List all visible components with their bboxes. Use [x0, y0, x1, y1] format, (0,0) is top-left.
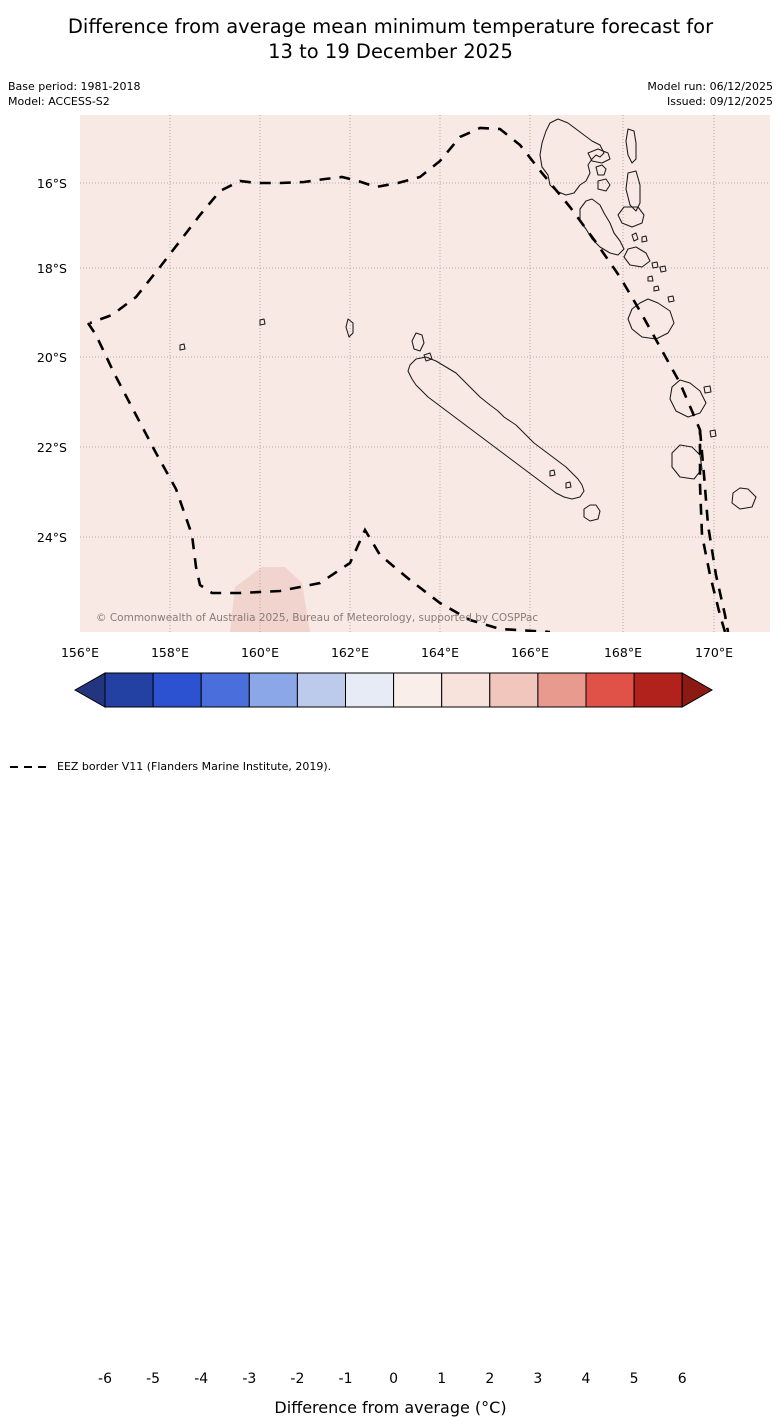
colorbar-bins — [105, 673, 682, 707]
issued-text: Issued: 09/12/2025 — [647, 95, 773, 110]
colorbar-cap-high — [682, 673, 712, 707]
cbar-tick-0: 0 — [374, 1371, 414, 1387]
y-tick-24S: 24°S — [0, 530, 67, 545]
x-tick-168E: 168°E — [583, 645, 663, 660]
footnote-text: EEZ border V11 (Flanders Marine Institut… — [57, 760, 331, 773]
cbar-tick-5: 5 — [614, 1371, 654, 1387]
cbar-tick--6: -6 — [85, 1371, 125, 1387]
colorbar-svg — [0, 668, 781, 714]
y-tick-22S: 22°S — [0, 440, 67, 455]
cbar-tick-1: 1 — [422, 1371, 462, 1387]
x-tick-170E: 170°E — [674, 645, 754, 660]
map-panel[interactable]: © Commonwealth of Australia 2025, Bureau… — [80, 115, 770, 632]
cbar-tick--2: -2 — [277, 1371, 317, 1387]
cbar-tick--3: -3 — [229, 1371, 269, 1387]
x-tick-160E: 160°E — [220, 645, 300, 660]
colorbar-cap-low — [75, 673, 105, 707]
cbar-tick--5: -5 — [133, 1371, 173, 1387]
cbar-tick--4: -4 — [181, 1371, 221, 1387]
x-tick-156E: 156°E — [40, 645, 120, 660]
anomaly-field-base — [80, 115, 770, 632]
figure-root: Difference from average mean minimum tem… — [0, 0, 781, 781]
map-canvas — [80, 115, 770, 632]
cbar-tick--1: -1 — [326, 1371, 366, 1387]
map-copyright: © Commonwealth of Australia 2025, Bureau… — [96, 612, 538, 624]
cbar-tick-3: 3 — [518, 1371, 558, 1387]
title-line-1: Difference from average mean minimum tem… — [0, 14, 781, 39]
eez-legend-dash-icon — [8, 762, 52, 772]
title-line-2: 13 to 19 December 2025 — [0, 39, 781, 64]
cbar-tick-4: 4 — [566, 1371, 606, 1387]
x-tick-158E: 158°E — [130, 645, 210, 660]
page-title: Difference from average mean minimum tem… — [0, 14, 781, 64]
x-tick-164E: 164°E — [400, 645, 480, 660]
cbar-tick-2: 2 — [470, 1371, 510, 1387]
model-text: Model: ACCESS-S2 — [8, 95, 140, 110]
colorbar[interactable]: -6 -5 -4 -3 -2 -1 0 1 2 3 4 5 6 Differen… — [0, 668, 781, 714]
y-tick-20S: 20°S — [0, 350, 67, 365]
y-tick-16S: 16°S — [0, 176, 67, 191]
cbar-tick-6: 6 — [662, 1371, 702, 1387]
x-tick-162E: 162°E — [310, 645, 390, 660]
colorbar-ticks: -6 -5 -4 -3 -2 -1 0 1 2 3 4 5 6 — [0, 1371, 781, 1391]
model-run-text: Model run: 06/12/2025 — [647, 80, 773, 95]
footnote: EEZ border V11 (Flanders Marine Institut… — [8, 760, 331, 773]
meta-right: Model run: 06/12/2025 Issued: 09/12/2025 — [647, 80, 773, 109]
x-tick-166E: 166°E — [490, 645, 570, 660]
base-period-text: Base period: 1981-2018 — [8, 80, 140, 95]
colorbar-title: Difference from average (°C) — [0, 1398, 781, 1417]
meta-left: Base period: 1981-2018 Model: ACCESS-S2 — [8, 80, 140, 109]
y-tick-18S: 18°S — [0, 261, 67, 276]
